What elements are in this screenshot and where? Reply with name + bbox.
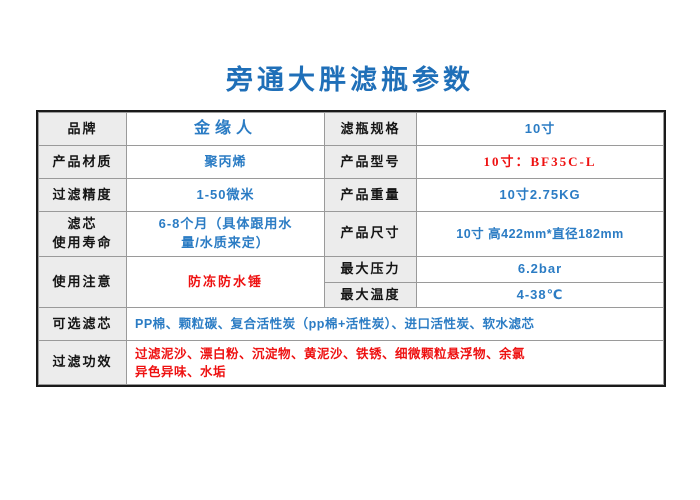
label-cartridge-life-line1: 滤芯	[45, 215, 120, 234]
value-cartridge-life-line2: 量/水质来定）	[133, 234, 318, 253]
product-spec-page: 旁通大胖滤瓶参数 品牌 金缘人 滤瓶规格 10寸 产品材质 聚丙烯 产品型号 1…	[0, 0, 700, 500]
value-usage-notice: 防冻防水锤	[127, 256, 325, 308]
label-bottle-spec: 滤瓶规格	[325, 113, 417, 146]
value-weight: 10寸2.75KG	[417, 179, 664, 212]
value-cartridge-life-line1: 6-8个月（具体跟用水	[133, 215, 318, 234]
value-filtration-effects: 过滤泥沙、漂白粉、沉淀物、黄泥沙、铁锈、细微颗粒悬浮物、余氯 异色异味、水垢	[127, 341, 664, 385]
table-row: 产品材质 聚丙烯 产品型号 10寸：BF35C-L	[39, 146, 664, 179]
value-brand: 金缘人	[127, 113, 325, 146]
value-max-pressure: 6.2bar	[417, 256, 664, 282]
value-filtration-effects-line2: 异色异味、水垢	[135, 363, 657, 381]
label-usage-notice: 使用注意	[39, 256, 127, 308]
page-title: 旁通大胖滤瓶参数	[0, 58, 700, 97]
value-filtration-effects-line1: 过滤泥沙、漂白粉、沉淀物、黄泥沙、铁锈、细微颗粒悬浮物、余氯	[135, 345, 657, 363]
label-model: 产品型号	[325, 146, 417, 179]
value-cartridge-life: 6-8个月（具体跟用水 量/水质来定）	[127, 212, 325, 257]
label-weight: 产品重量	[325, 179, 417, 212]
table-row: 可选滤芯 PP棉、颗粒碳、复合活性炭（pp棉+活性炭）、进口活性炭、软水滤芯	[39, 308, 664, 341]
table-row: 过滤精度 1-50微米 产品重量 10寸2.75KG	[39, 179, 664, 212]
value-material: 聚丙烯	[127, 146, 325, 179]
label-filtration-effects: 过滤功效	[39, 341, 127, 385]
value-filtration-accuracy: 1-50微米	[127, 179, 325, 212]
label-cartridge-life-line2: 使用寿命	[45, 234, 120, 253]
label-max-temperature: 最大温度	[325, 282, 417, 308]
table-row: 使用注意 防冻防水锤 最大压力 6.2bar	[39, 256, 664, 282]
brand-logo-text: 金缘人	[194, 120, 257, 137]
label-dimensions: 产品尺寸	[325, 212, 417, 257]
label-max-pressure: 最大压力	[325, 256, 417, 282]
spec-table: 品牌 金缘人 滤瓶规格 10寸 产品材质 聚丙烯 产品型号 10寸：BF35C-…	[38, 112, 664, 385]
label-material: 产品材质	[39, 146, 127, 179]
table-row: 品牌 金缘人 滤瓶规格 10寸	[39, 113, 664, 146]
label-cartridge-life: 滤芯 使用寿命	[39, 212, 127, 257]
value-max-temperature: 4-38℃	[417, 282, 664, 308]
label-optional-cartridges: 可选滤芯	[39, 308, 127, 341]
value-bottle-spec: 10寸	[417, 113, 664, 146]
value-dimensions: 10寸 高422mm*直径182mm	[417, 212, 664, 257]
label-filtration-accuracy: 过滤精度	[39, 179, 127, 212]
label-brand: 品牌	[39, 113, 127, 146]
table-row: 过滤功效 过滤泥沙、漂白粉、沉淀物、黄泥沙、铁锈、细微颗粒悬浮物、余氯 异色异味…	[39, 341, 664, 385]
value-optional-cartridges: PP棉、颗粒碳、复合活性炭（pp棉+活性炭）、进口活性炭、软水滤芯	[127, 308, 664, 341]
table-row: 滤芯 使用寿命 6-8个月（具体跟用水 量/水质来定） 产品尺寸 10寸 高42…	[39, 212, 664, 257]
value-model: 10寸：BF35C-L	[417, 146, 664, 179]
